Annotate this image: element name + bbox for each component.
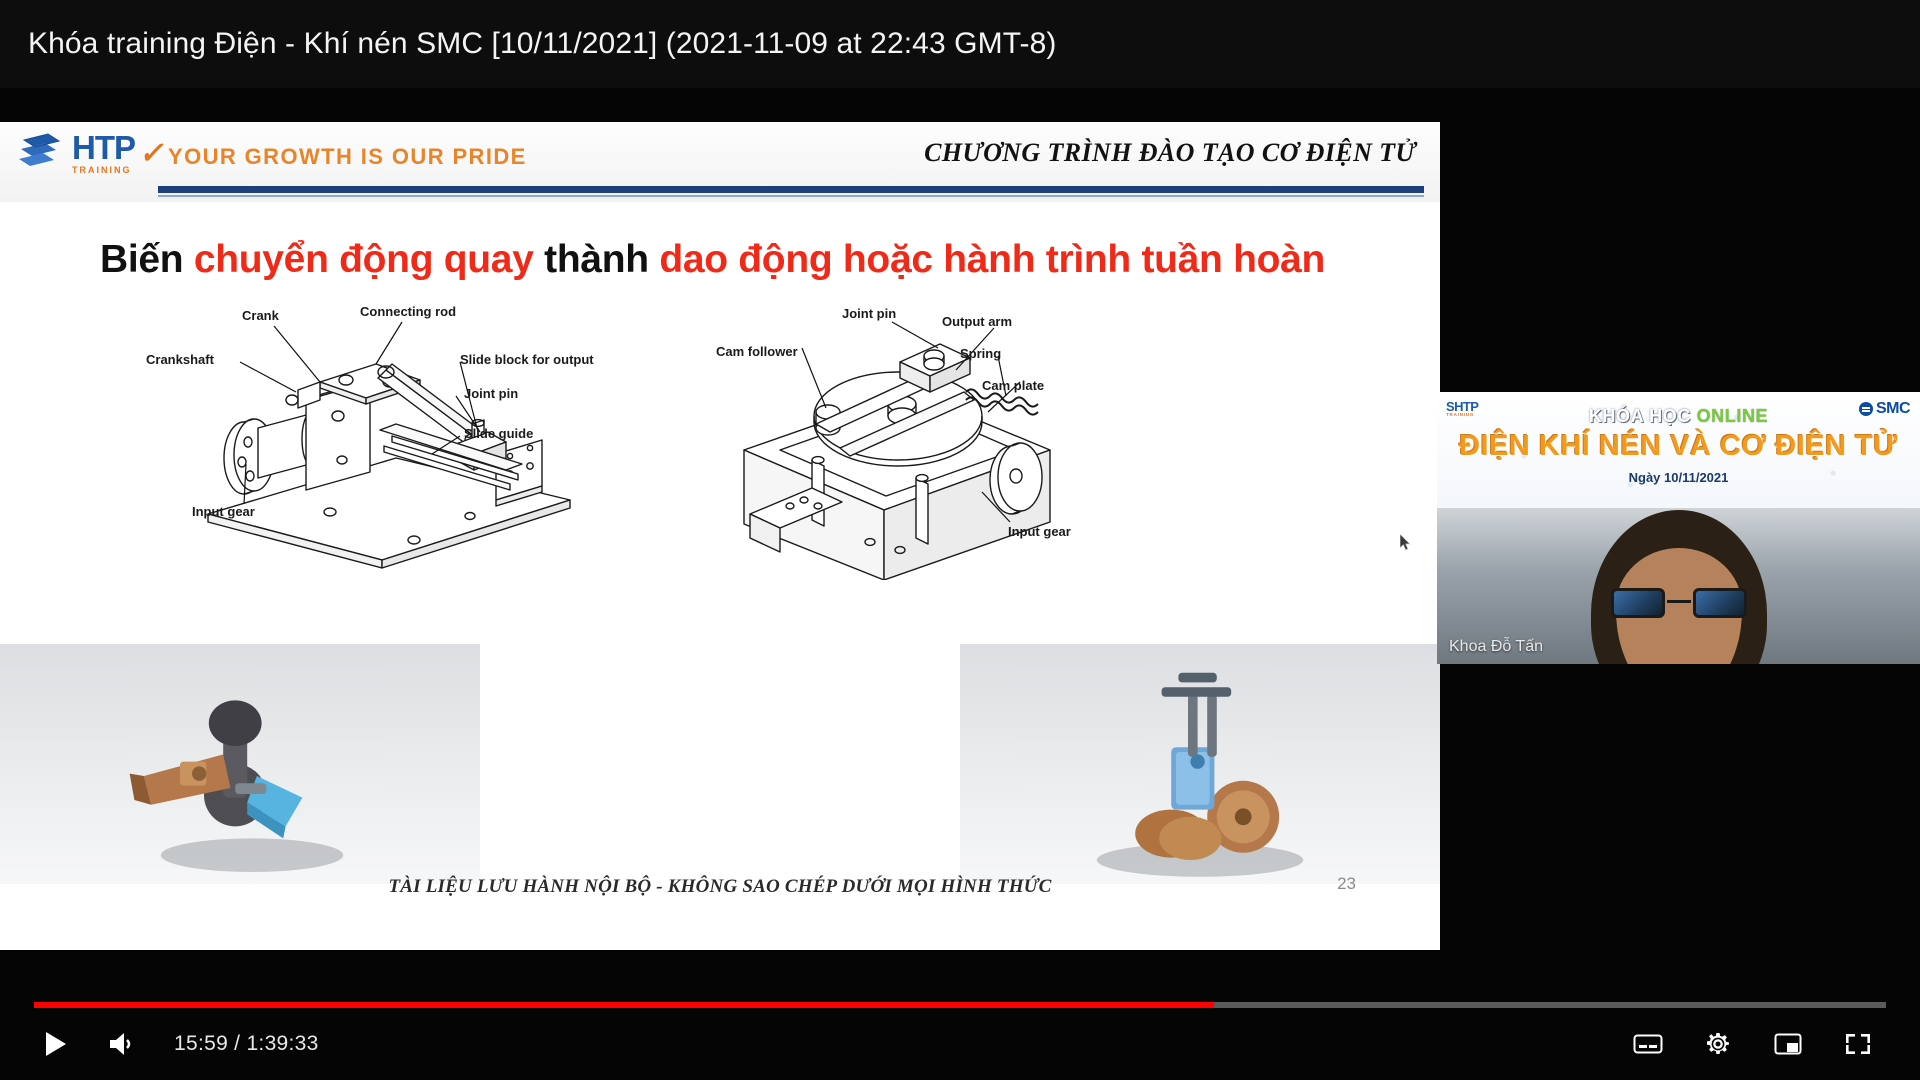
render-strip: [0, 644, 1440, 884]
diagram-label: Cam follower: [716, 344, 798, 359]
webcam-course-line1-a: KHÓA HỌC: [1589, 406, 1697, 426]
shtp-logo-text: HTP: [72, 131, 135, 164]
shtp-logo: HTP TRAINING ✓: [18, 130, 166, 176]
check-icon: ✓: [137, 136, 170, 171]
render-spacer: [480, 644, 960, 884]
diagram-label: Slide block for output: [460, 352, 594, 367]
render-cam-mechanism: [960, 644, 1440, 884]
webcam-overlay[interactable]: SHTP TRAINING SMC KHÓA HỌC ONLINE ĐIỆN K…: [1437, 392, 1920, 664]
fullscreen-button[interactable]: [1830, 1016, 1886, 1072]
header-divider: [158, 186, 1424, 193]
headline-part-4: dao động hoặc hành trình tuần hoàn: [659, 238, 1325, 281]
diagram-label: Cam plate: [982, 378, 1044, 393]
slide-headline: Biến chuyển động quay thành dao động hoặ…: [0, 238, 1440, 282]
miniplayer-button[interactable]: [1760, 1016, 1816, 1072]
slide-page-number: 23: [1337, 874, 1356, 894]
webcam-course-line1: KHÓA HỌC ONLINE: [1437, 406, 1920, 427]
crank-slider-diagram: Crank Connecting rod Crankshaft Slide bl…: [170, 304, 600, 574]
webcam-banner: SHTP TRAINING SMC KHÓA HỌC ONLINE ĐIỆN K…: [1437, 392, 1920, 508]
play-button[interactable]: [28, 1016, 84, 1072]
video-title: Khóa training Điện - Khí nén SMC [10/11/…: [0, 27, 1056, 61]
diagram-label: Input gear: [192, 504, 255, 519]
volume-button[interactable]: [94, 1016, 150, 1072]
shtp-logo-mark: [18, 130, 62, 176]
time-display: 15:59 / 1:39:33: [174, 1032, 319, 1056]
diagram-label: Joint pin: [464, 386, 518, 401]
glasses-icon: [1611, 588, 1747, 618]
settings-button[interactable]: [1690, 1016, 1746, 1072]
diagram-label: Output arm: [942, 314, 1012, 329]
webcam-course-line1-b: ONLINE: [1697, 406, 1769, 426]
slide-footer-text: TÀI LIỆU LƯU HÀNH NỘI BỘ - KHÔNG SAO CHÉ…: [0, 876, 1440, 898]
webcam-course-line2: ĐIỆN KHÍ NÉN VÀ CƠ ĐIỆN TỬ: [1437, 430, 1920, 463]
glasses-right-lens: [1693, 588, 1747, 618]
glasses-left-lens: [1611, 588, 1665, 618]
program-title: CHƯƠNG TRÌNH ĐÀO TẠO CƠ ĐIỆN TỬ: [924, 138, 1416, 168]
webcam-course-date: Ngày 10/11/2021: [1437, 470, 1920, 485]
diagram-label: Connecting rod: [360, 304, 456, 319]
diagram-label: Crank: [242, 308, 279, 323]
render-crank-slider: [0, 644, 480, 884]
presenter-head: [1591, 510, 1767, 664]
slide-tagline: YOUR GROWTH IS OUR PRIDE: [168, 144, 527, 170]
subtitles-button[interactable]: [1620, 1016, 1676, 1072]
shtp-logo-subtext: TRAINING: [72, 165, 135, 175]
diagram-label: Spring: [960, 346, 1001, 361]
video-title-bar: Khóa training Điện - Khí nén SMC [10/11/…: [0, 0, 1920, 88]
diagram-row: Crank Connecting rod Crankshaft Slide bl…: [0, 300, 1440, 590]
mouse-cursor-icon: [1400, 534, 1412, 552]
headline-part-1: Biến: [100, 238, 194, 281]
slide-header: HTP TRAINING ✓ YOUR GROWTH IS OUR PRIDE …: [0, 122, 1440, 202]
cam-mechanism-diagram: Cam follower Joint pin Output arm Spring…: [720, 300, 1160, 580]
glasses-bridge: [1667, 600, 1691, 603]
player-controls: 15:59 / 1:39:33: [0, 1008, 1920, 1080]
diagram-label: Slide guide: [464, 426, 533, 441]
diagram-label: Input gear: [1008, 524, 1071, 539]
shared-screen-slide: HTP TRAINING ✓ YOUR GROWTH IS OUR PRIDE …: [0, 122, 1440, 950]
headline-part-3: thành: [534, 238, 660, 281]
diagram-label: Joint pin: [842, 306, 896, 321]
video-player: Khóa training Điện - Khí nén SMC [10/11/…: [0, 0, 1920, 1080]
participant-name-label: Khoa Đỗ Tấn: [1449, 638, 1543, 656]
headline-part-2: chuyển động quay: [194, 238, 534, 281]
diagram-label: Crankshaft: [146, 352, 214, 367]
